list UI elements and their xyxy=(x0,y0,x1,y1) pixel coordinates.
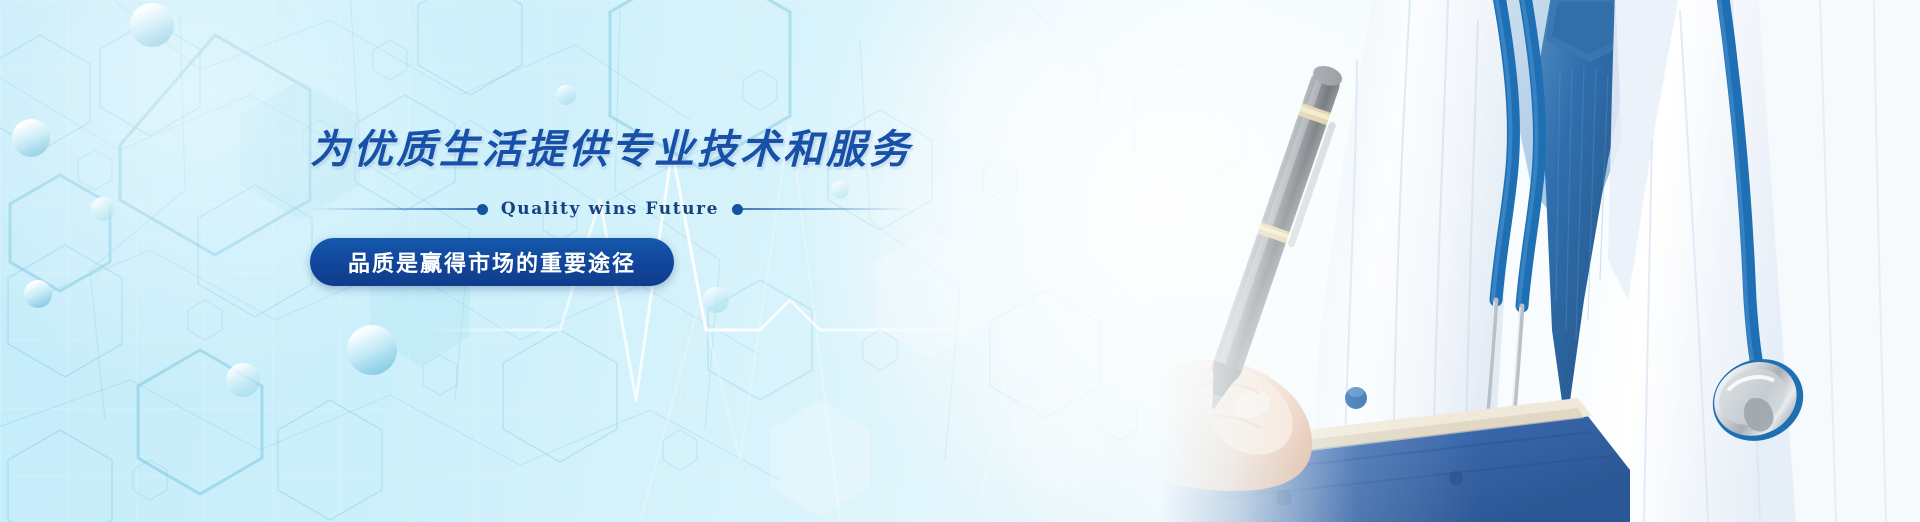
slogan-pill-button[interactable]: 品质是赢得市场的重要途径 xyxy=(310,238,674,286)
tagline-text: Quality wins Future xyxy=(488,199,732,219)
tagline-row: Quality wins Future xyxy=(310,200,910,218)
bullet-dot-left-icon xyxy=(477,204,488,215)
page-title: 为优质生活提供专业技术和服务 xyxy=(310,128,950,172)
tagline-rule-left xyxy=(310,208,477,210)
slogan-pill-label: 品质是赢得市场的重要途径 xyxy=(348,246,636,278)
tagline-rule-right xyxy=(743,208,910,210)
doctor-photo xyxy=(1160,0,1920,522)
bullet-dot-right-icon xyxy=(732,204,743,215)
hero-banner: 为优质生活提供专业技术和服务 Quality wins Future 品质是赢得… xyxy=(0,0,1920,522)
banner-copy: 为优质生活提供专业技术和服务 Quality wins Future 品质是赢得… xyxy=(310,128,950,286)
